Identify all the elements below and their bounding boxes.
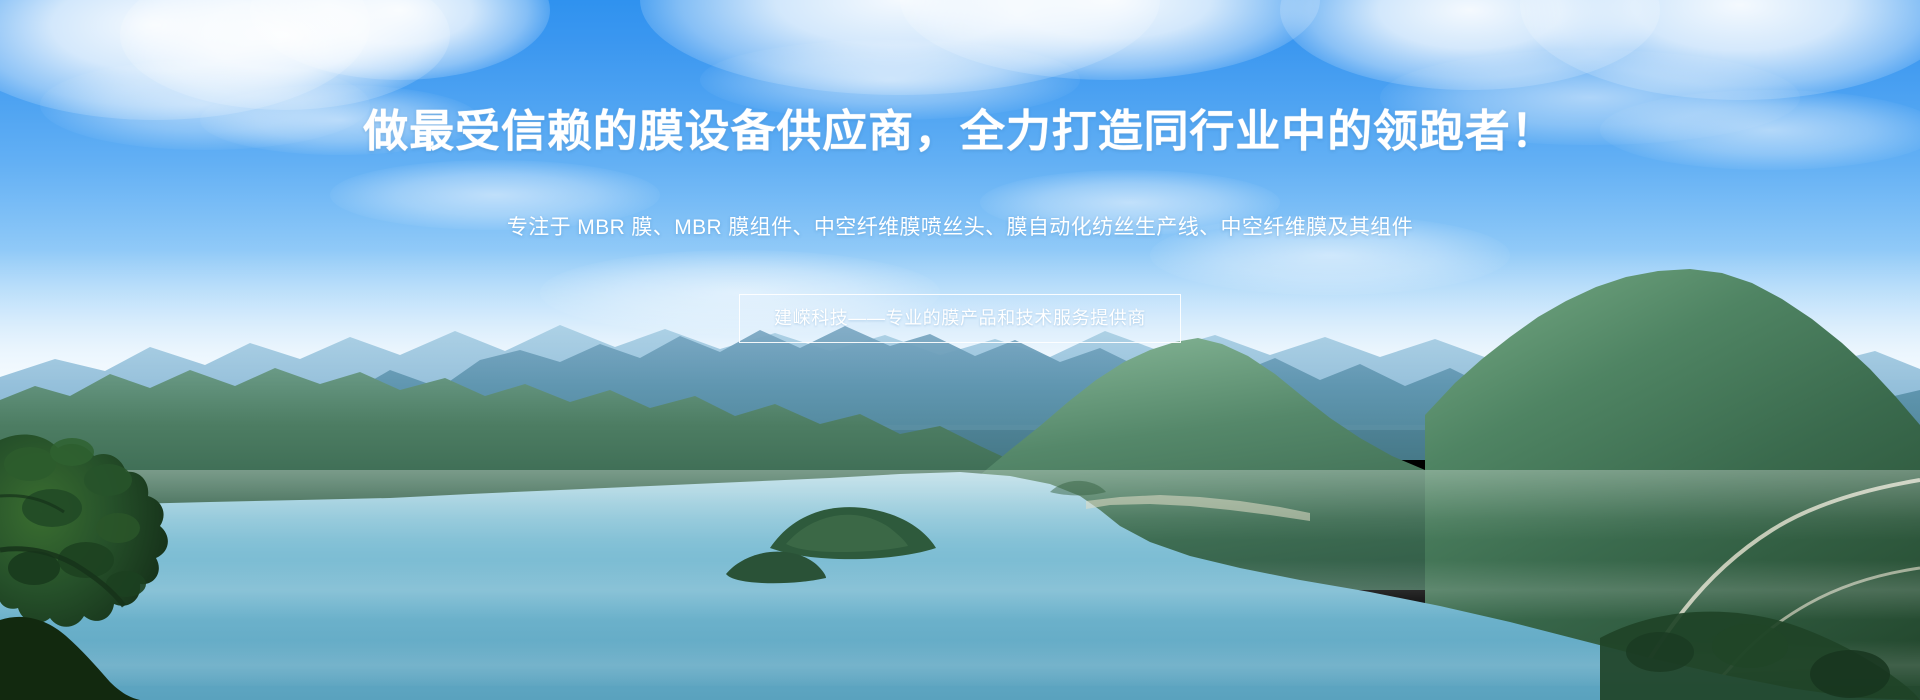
water-highlight [0,470,1920,540]
foreground-foliage-corner [0,600,200,700]
banner-subheadline: 专注于 MBR 膜、MBR 膜组件、中空纤维膜喷丝头、膜自动化纺丝生产线、中空纤… [0,213,1920,243]
foreground-vegetation-right [1600,560,1920,700]
mountain-road [0,420,1920,700]
water-highlight [0,560,1920,620]
lake-island-large [0,500,1920,570]
foreground-foliage [0,400,300,700]
hero-banner: 做最受信赖的膜设备供应商，全力打造同行业中的领跑者！ 专注于 MBR 膜、MBR… [0,0,1920,700]
banner-tagline-wrapper: 建嵘科技——专业的膜产品和技术服务提供商 [0,294,1920,343]
lake-island-small [0,540,1920,590]
water-ripple [0,640,1920,686]
banner-tagline-box[interactable]: 建嵘科技——专业的膜产品和技术服务提供商 [739,294,1181,343]
banner-headline: 做最受信赖的膜设备供应商，全力打造同行业中的领跑者！ [0,103,1920,161]
lake-water [0,400,1920,700]
right-shoreline [0,455,1920,545]
lake-island-tiny [0,470,1920,504]
